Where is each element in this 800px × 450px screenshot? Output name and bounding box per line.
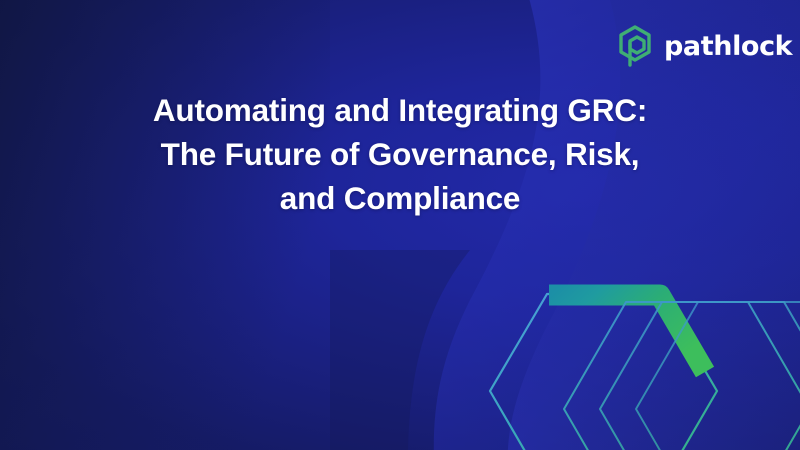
brand-logo: pathlock bbox=[615, 24, 792, 68]
concentric-hexagon-line-1 bbox=[564, 302, 800, 450]
title-line-1: Automating and Integrating GRC: bbox=[0, 88, 800, 132]
title-line-3: and Compliance bbox=[0, 176, 800, 220]
concentric-hexagon-line-3 bbox=[636, 302, 800, 450]
hexagon-outline-shape bbox=[490, 294, 717, 450]
brand-wordmark: pathlock bbox=[664, 33, 792, 60]
pathlock-hexagon-logo-icon bbox=[615, 24, 655, 68]
concentric-hexagon-line-2 bbox=[600, 302, 800, 450]
presentation-slide: pathlock Automating and Integrating GRC:… bbox=[0, 0, 800, 450]
title-line-2: The Future of Governance, Risk, bbox=[0, 132, 800, 176]
hexagon-green-accent-stroke bbox=[549, 295, 705, 372]
page-title: Automating and Integrating GRC: The Futu… bbox=[0, 88, 800, 220]
